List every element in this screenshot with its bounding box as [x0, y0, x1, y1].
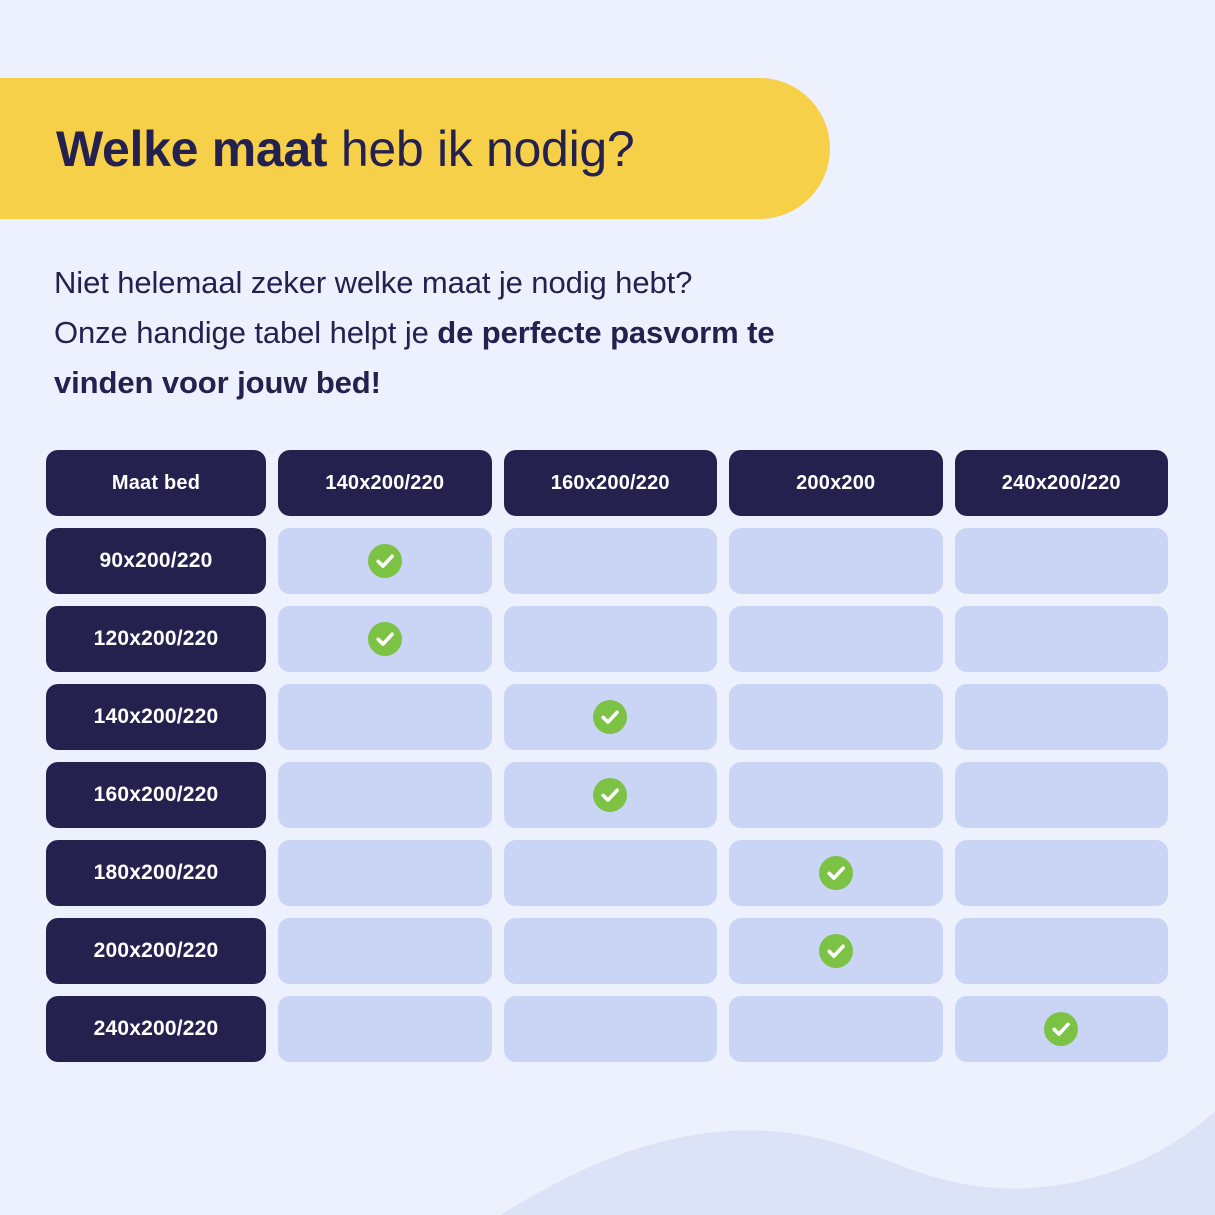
- page-title: Welke maat heb ik nodig?: [56, 124, 634, 174]
- table-cell-empty: [955, 606, 1169, 672]
- bed-size-table: Maat bed140x200/220160x200/220200x200240…: [46, 450, 1168, 1062]
- table-row: 160x200/220: [46, 762, 1168, 828]
- row-header-cell: 200x200/220: [46, 918, 266, 984]
- column-header-label: 160x200/220: [551, 472, 670, 495]
- table-cell-checked: [955, 996, 1169, 1062]
- table-cell-checked: [278, 528, 492, 594]
- table-row: 200x200/220: [46, 918, 1168, 984]
- check-circle-icon: [819, 856, 853, 890]
- table-cell-empty: [955, 528, 1169, 594]
- row-header-label: 180x200/220: [94, 861, 219, 885]
- table-cell-empty: [729, 762, 943, 828]
- table-row: 120x200/220: [46, 606, 1168, 672]
- row-header-label: 120x200/220: [94, 627, 219, 651]
- table-cell-empty: [955, 840, 1169, 906]
- table-row: 240x200/220: [46, 996, 1168, 1062]
- table-cell-checked: [278, 606, 492, 672]
- table-cell-empty: [504, 840, 718, 906]
- intro-line-1: Niet helemaal zeker welke maat je nodig …: [54, 258, 1014, 308]
- table-cell-checked: [729, 918, 943, 984]
- check-circle-icon: [368, 622, 402, 656]
- table-cell-empty: [504, 996, 718, 1062]
- check-circle-icon: [819, 934, 853, 968]
- table-cell-empty: [729, 606, 943, 672]
- column-header-label: 240x200/220: [1002, 472, 1121, 495]
- table-header-cell: 200x200: [729, 450, 943, 516]
- row-header-label: 140x200/220: [94, 705, 219, 729]
- table-cell-empty: [955, 918, 1169, 984]
- table-cell-checked: [729, 840, 943, 906]
- row-header-label: 90x200/220: [100, 549, 213, 573]
- table-cell-checked: [504, 762, 718, 828]
- table-cell-empty: [278, 840, 492, 906]
- table-cell-empty: [278, 684, 492, 750]
- table-cell-empty: [729, 528, 943, 594]
- table-header-cell: 240x200/220: [955, 450, 1169, 516]
- row-header-cell: 240x200/220: [46, 996, 266, 1062]
- bottom-wave-decoration: [0, 1075, 1215, 1215]
- intro-line-3: vinden voor jouw bed!: [54, 358, 1014, 408]
- table-cell-checked: [504, 684, 718, 750]
- check-circle-icon: [368, 544, 402, 578]
- table-header-cell: 140x200/220: [278, 450, 492, 516]
- check-circle-icon: [1044, 1012, 1078, 1046]
- column-header-label: Maat bed: [112, 472, 200, 495]
- column-header-label: 140x200/220: [325, 472, 444, 495]
- row-header-cell: 90x200/220: [46, 528, 266, 594]
- table-row: 90x200/220: [46, 528, 1168, 594]
- check-circle-icon: [593, 700, 627, 734]
- page-title-rest: heb ik nodig?: [327, 121, 634, 177]
- table-cell-empty: [278, 918, 492, 984]
- intro-line-3-strong: vinden voor jouw bed!: [54, 365, 381, 400]
- intro-line-2-plain: Onze handige tabel helpt je: [54, 315, 437, 350]
- page-title-strong: Welke maat: [56, 121, 327, 177]
- row-header-cell: 120x200/220: [46, 606, 266, 672]
- table-cell-empty: [729, 996, 943, 1062]
- table-cell-empty: [504, 606, 718, 672]
- column-header-label: 200x200: [796, 472, 875, 495]
- table-header-row: Maat bed140x200/220160x200/220200x200240…: [46, 450, 1168, 516]
- table-row: 180x200/220: [46, 840, 1168, 906]
- table-cell-empty: [504, 528, 718, 594]
- row-header-label: 200x200/220: [94, 939, 219, 963]
- row-header-cell: 160x200/220: [46, 762, 266, 828]
- table-row: 140x200/220: [46, 684, 1168, 750]
- row-header-label: 160x200/220: [94, 783, 219, 807]
- row-header-cell: 180x200/220: [46, 840, 266, 906]
- table-cell-empty: [504, 918, 718, 984]
- check-circle-icon: [593, 778, 627, 812]
- table-header-corner: Maat bed: [46, 450, 266, 516]
- intro-paragraph: Niet helemaal zeker welke maat je nodig …: [54, 258, 1014, 408]
- intro-line-2-strong: de perfecte pasvorm te: [437, 315, 774, 350]
- row-header-cell: 140x200/220: [46, 684, 266, 750]
- table-cell-empty: [278, 996, 492, 1062]
- row-header-label: 240x200/220: [94, 1017, 219, 1041]
- table-cell-empty: [729, 684, 943, 750]
- table-cell-empty: [955, 684, 1169, 750]
- header-banner: Welke maat heb ik nodig?: [0, 78, 830, 219]
- intro-line-2: Onze handige tabel helpt je de perfecte …: [54, 308, 1014, 358]
- table-header-cell: 160x200/220: [504, 450, 718, 516]
- table-cell-empty: [278, 762, 492, 828]
- table-cell-empty: [955, 762, 1169, 828]
